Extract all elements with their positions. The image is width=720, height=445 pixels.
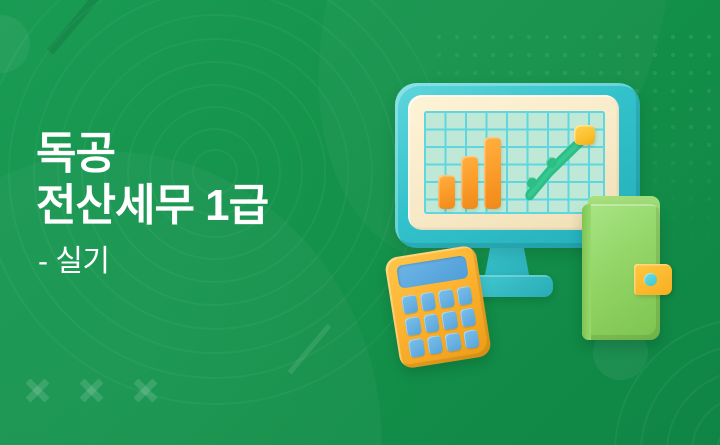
planner-book — [582, 202, 668, 342]
decorative-circle — [0, 15, 30, 73]
x-mark-icon — [24, 377, 50, 403]
calculator-key — [426, 335, 443, 355]
course-banner: 독공 전산세무 1급 - 실기 — [0, 0, 720, 445]
calculator-key — [404, 316, 421, 336]
book-spine — [582, 204, 591, 340]
calculator-key — [456, 286, 473, 306]
x-mark-icon — [132, 377, 158, 403]
calculator-key — [444, 332, 461, 352]
page-title-line2: 전산세무 1급 — [36, 182, 268, 230]
chart-data-point — [546, 157, 557, 168]
diagonal-stripe — [288, 324, 332, 375]
chart-data-point — [526, 177, 537, 188]
chart-endpoint-marker — [574, 125, 595, 145]
page-subtitle: - 실기 — [38, 245, 268, 278]
calculator-key — [423, 313, 440, 333]
book-snap-button — [644, 273, 657, 286]
calculator-keypad — [401, 286, 480, 358]
finance-illustration — [380, 70, 710, 370]
calculator-key — [401, 294, 418, 314]
diagonal-stripe — [47, 0, 101, 55]
x-mark-group — [24, 377, 158, 403]
calculator-key — [459, 307, 476, 327]
calculator-key — [463, 329, 480, 349]
chart-plot-area — [424, 111, 605, 214]
headline-block: 독공 전산세무 1급 - 실기 — [36, 130, 268, 278]
x-mark-icon — [78, 377, 104, 403]
calculator-key — [419, 292, 436, 312]
calculator-key — [408, 338, 425, 358]
calculator-key — [441, 310, 458, 330]
calculator-key — [437, 289, 454, 309]
page-title-line1: 독공 — [36, 130, 268, 178]
calculator — [384, 244, 492, 369]
